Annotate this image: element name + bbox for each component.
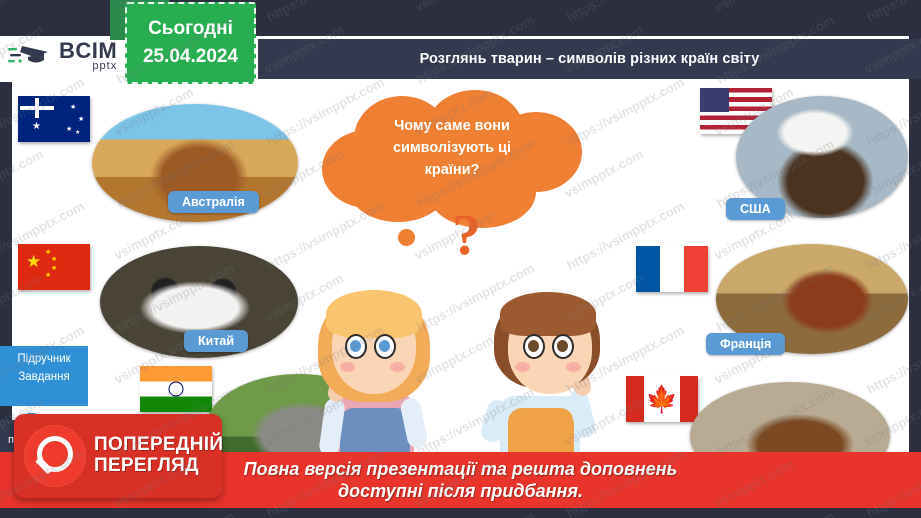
magnifier-icon [24,425,86,487]
maple-leaf-icon: 🍁 [646,386,678,412]
china-flag: ★ ★ ★ ★ ★ [18,244,90,290]
boy-eye-left [523,334,545,359]
date-badge-value: 25.04.2024 [143,43,238,71]
thought-line-3: країни? [318,160,586,182]
brand-logo[interactable]: BCIM pptx [8,40,117,72]
thought-line-2: символізують ці [318,138,586,160]
france-flag [636,246,708,292]
date-badge: Сьогодні 25.04.2024 [125,2,256,84]
date-badge-label: Сьогодні [148,15,233,43]
bottom-bar [0,508,921,518]
preview-badge: ПОПЕРЕДНІЙ ПЕРЕГЛЯД [14,414,222,498]
country-label-france: Франція [706,333,785,355]
usa-flag-union-icon [700,88,729,112]
thought-line-1: Чому саме вони [318,116,586,138]
ashoka-chakra-icon [169,382,184,397]
slide-title: Розглянь тварин – символів різних країн … [420,51,760,67]
slide-title-bar: Розглянь тварин – символів різних країн … [258,39,921,79]
presentation-slide: BCIM pptx Сьогодні 25.04.2024 Розглянь т… [0,0,921,518]
textbook-label: Підручник [0,350,88,368]
thought-bubble-dot [398,229,415,246]
question-mark: ? [452,206,481,264]
task-label: Завдання [0,368,88,386]
canada-flag: 🍁 [626,376,698,422]
preview-badge-text: ПОПЕРЕДНІЙ ПЕРЕГЛЯД [94,435,223,476]
textbook-task-box[interactable]: Підручник Завдання [0,346,88,406]
thought-bubble-text: Чому саме вони символізують ці країни? [318,116,586,181]
australia-flag: ★ ★ ★ ★ ★ [18,96,90,142]
union-jack-icon [20,98,54,118]
graduation-cap-icon [8,42,54,70]
preview-line-1: ПОПЕРЕДНІЙ [94,435,223,456]
girl-eye-left [345,334,367,359]
girl-eye-right [374,334,396,359]
country-label-usa: США [726,198,785,220]
boy-eye-right [552,334,574,359]
country-label-china: Китай [184,330,248,352]
country-label-australia: Австралія [168,191,259,213]
india-flag [140,366,212,412]
preview-line-2: ПЕРЕГЛЯД [94,456,223,477]
